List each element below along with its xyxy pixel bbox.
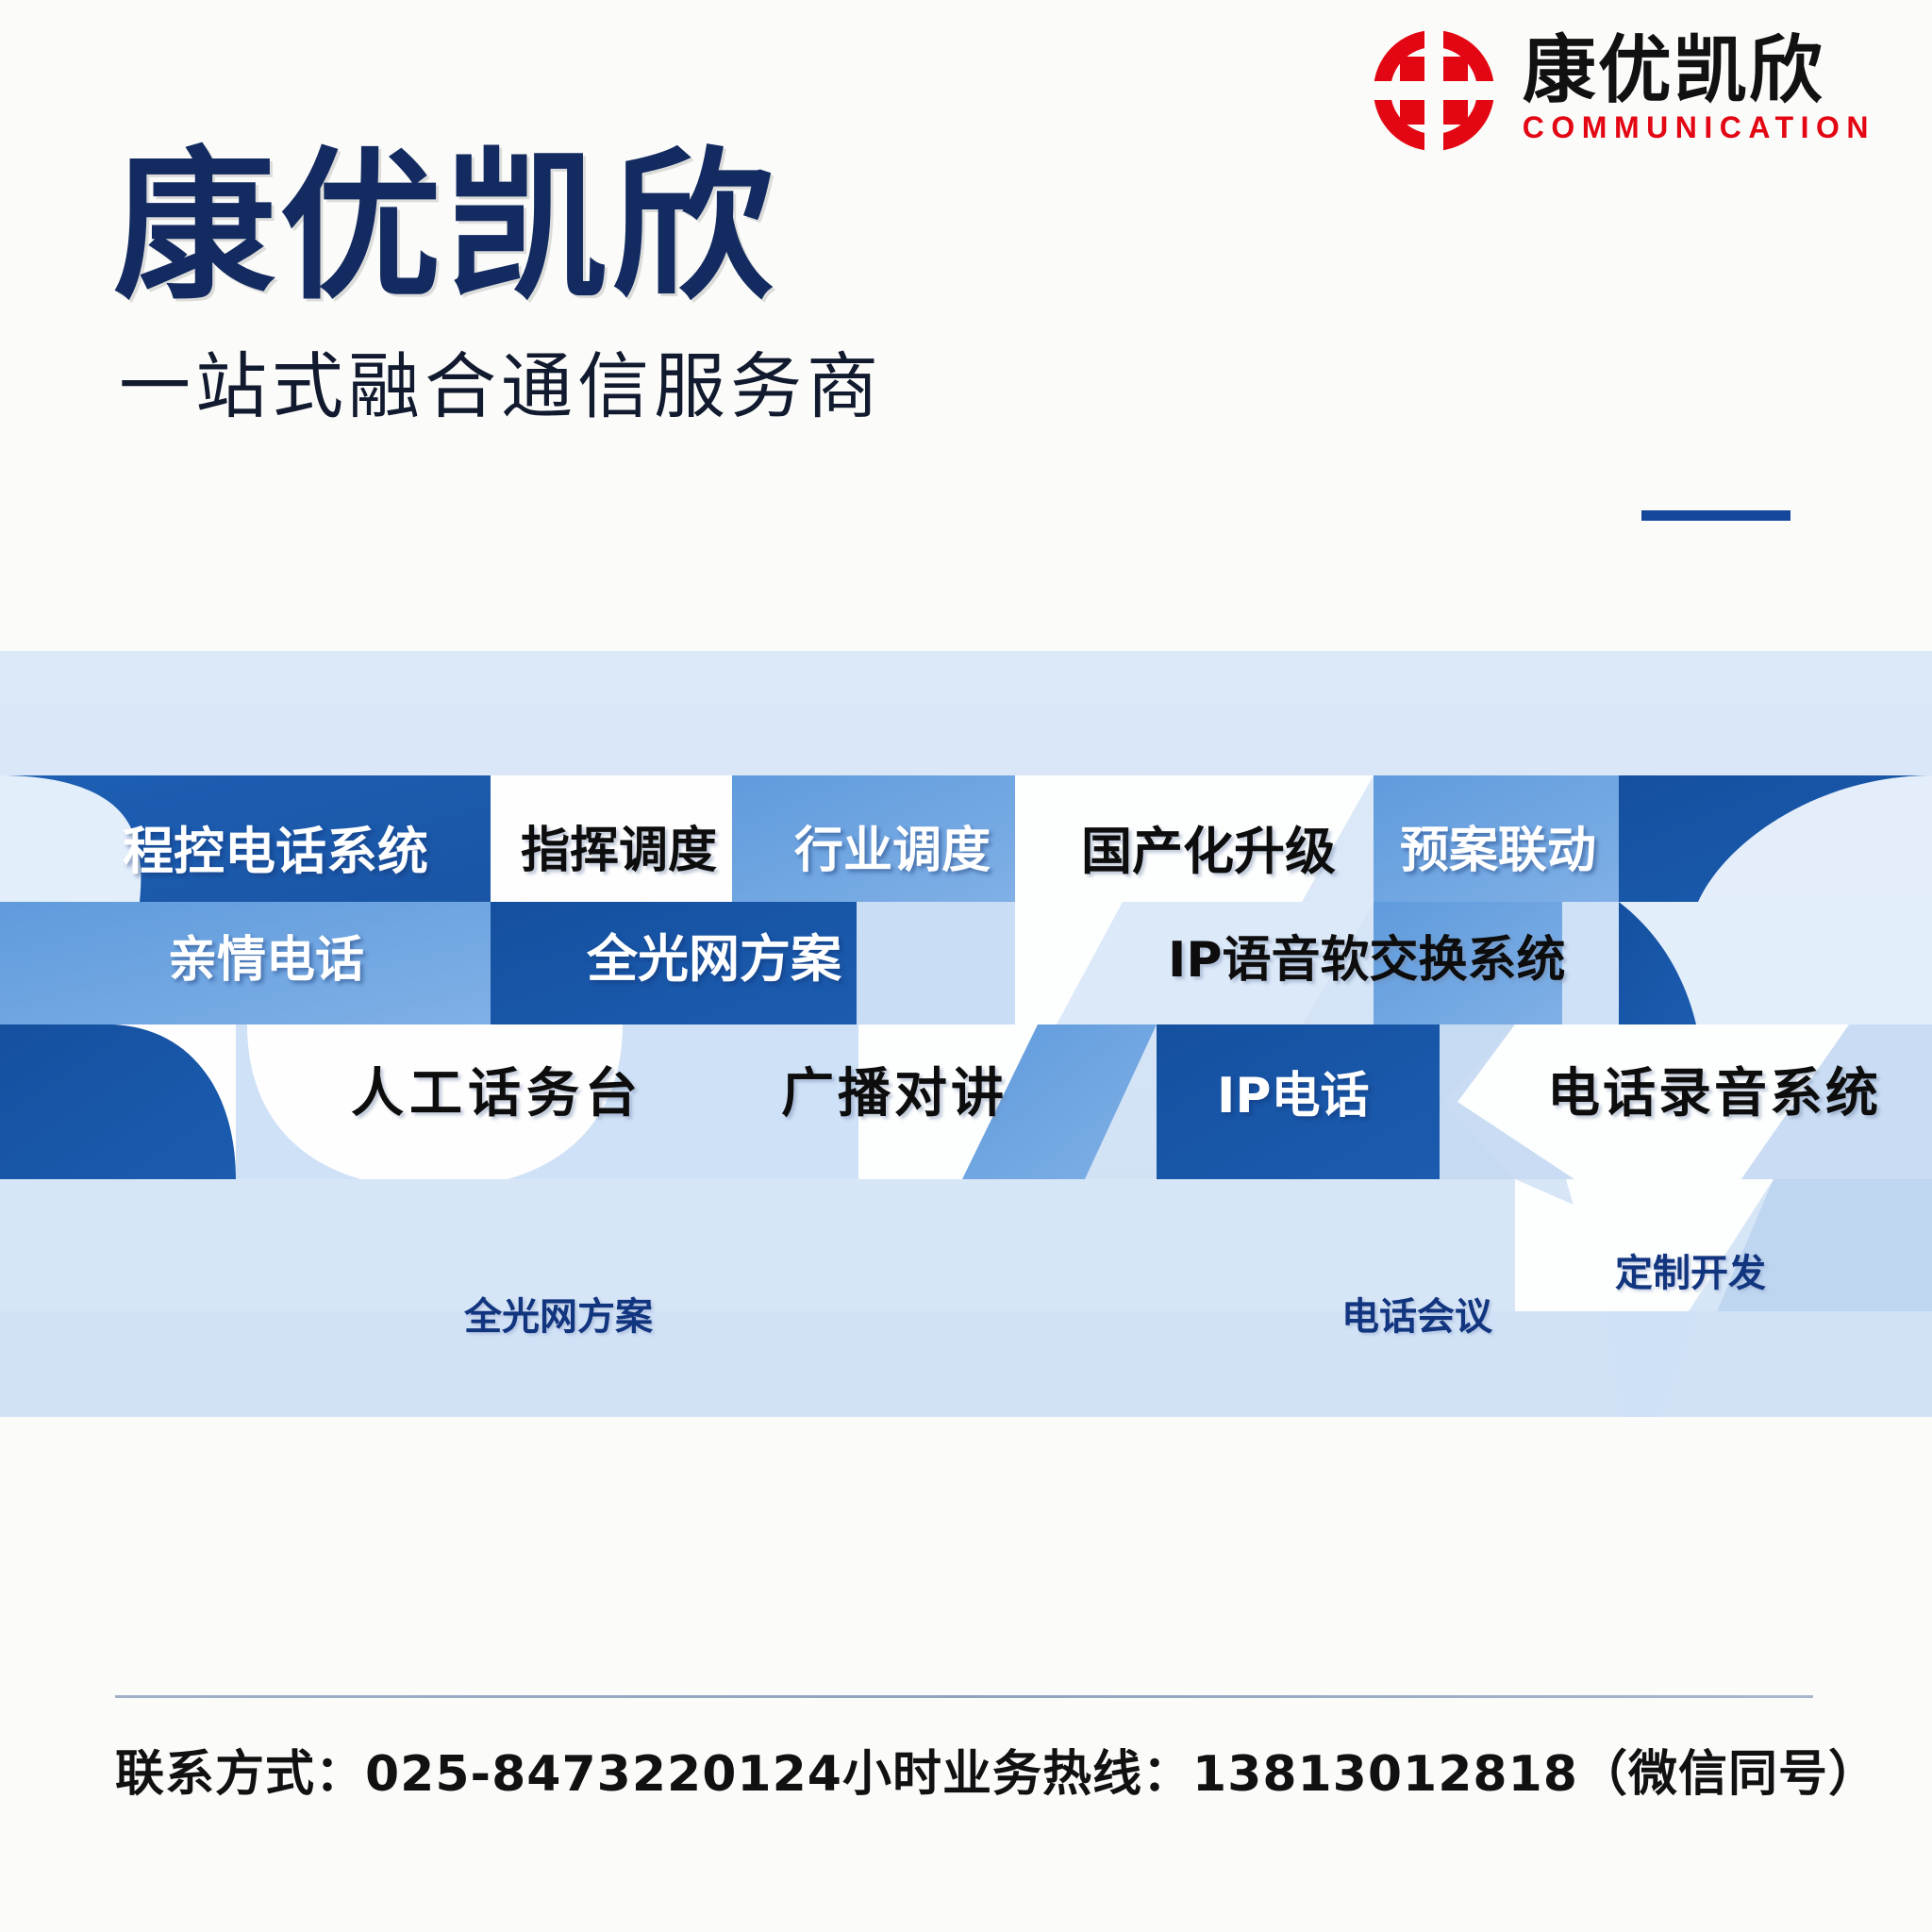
- tile-label-quanguang: 全光网方案: [587, 934, 841, 985]
- footer-divider: [115, 1695, 1813, 1698]
- target-grid-icon: [1370, 26, 1498, 155]
- tile-label-zhihui: 指挥调度: [521, 826, 717, 875]
- page-title: 康优凯欣: [113, 140, 883, 315]
- hotline-phone: 24小时业务热线：13813012818（微信同号）: [773, 1734, 1878, 1805]
- logo-english-name: COMMUNICATION: [1523, 110, 1875, 145]
- tile-label-guochan: 国产化升级: [1081, 826, 1336, 877]
- accent-dash: [1641, 510, 1790, 521]
- banner-mosaic: [0, 651, 1932, 1417]
- contact-phone: 联系方式：025-84732201: [115, 1734, 773, 1805]
- tile-label-ipphone: IP电话: [1217, 1072, 1369, 1121]
- logo-wordmark: 康优凯欣 COMMUNICATION: [1523, 36, 1875, 144]
- caption-dingzhikaifa: 定制开发: [1615, 1255, 1766, 1292]
- brand-logo: 康优凯欣 COMMUNICATION: [1370, 26, 1875, 155]
- tile-label-luyin: 电话录音系统: [1547, 1068, 1881, 1121]
- tile-label-chengkong: 程控电话系统: [123, 826, 428, 877]
- tile-label-yuan: 预案联动: [1400, 826, 1596, 875]
- headline-block: 康优凯欣 一站式融合通信服务商: [113, 140, 883, 432]
- footer-contact-row: 联系方式：025-84732201 24小时业务热线：13813012818（微…: [115, 1734, 1823, 1805]
- tile-label-hangye: 行业调度: [794, 826, 991, 875]
- tile-label-guangbo: 广播对讲: [781, 1068, 1008, 1121]
- caption-dianhuahuiyi: 电话会议: [1341, 1298, 1492, 1336]
- services-banner: 程控电话系统 指挥调度 行业调度 国产化升级 预案联动 亲情电话 全光网方案 I…: [0, 651, 1932, 1417]
- tile-label-rengong: 人工话务台: [351, 1068, 643, 1121]
- tile-label-qinqing: 亲情电话: [168, 936, 364, 985]
- caption-quanguangwang: 全光网方案: [464, 1298, 653, 1336]
- tile-label-ipvoice: IP语音软交换系统: [1168, 936, 1565, 985]
- page-subtitle: 一站式融合通信服务商: [119, 328, 883, 432]
- logo-chinese-name: 康优凯欣: [1523, 36, 1824, 106]
